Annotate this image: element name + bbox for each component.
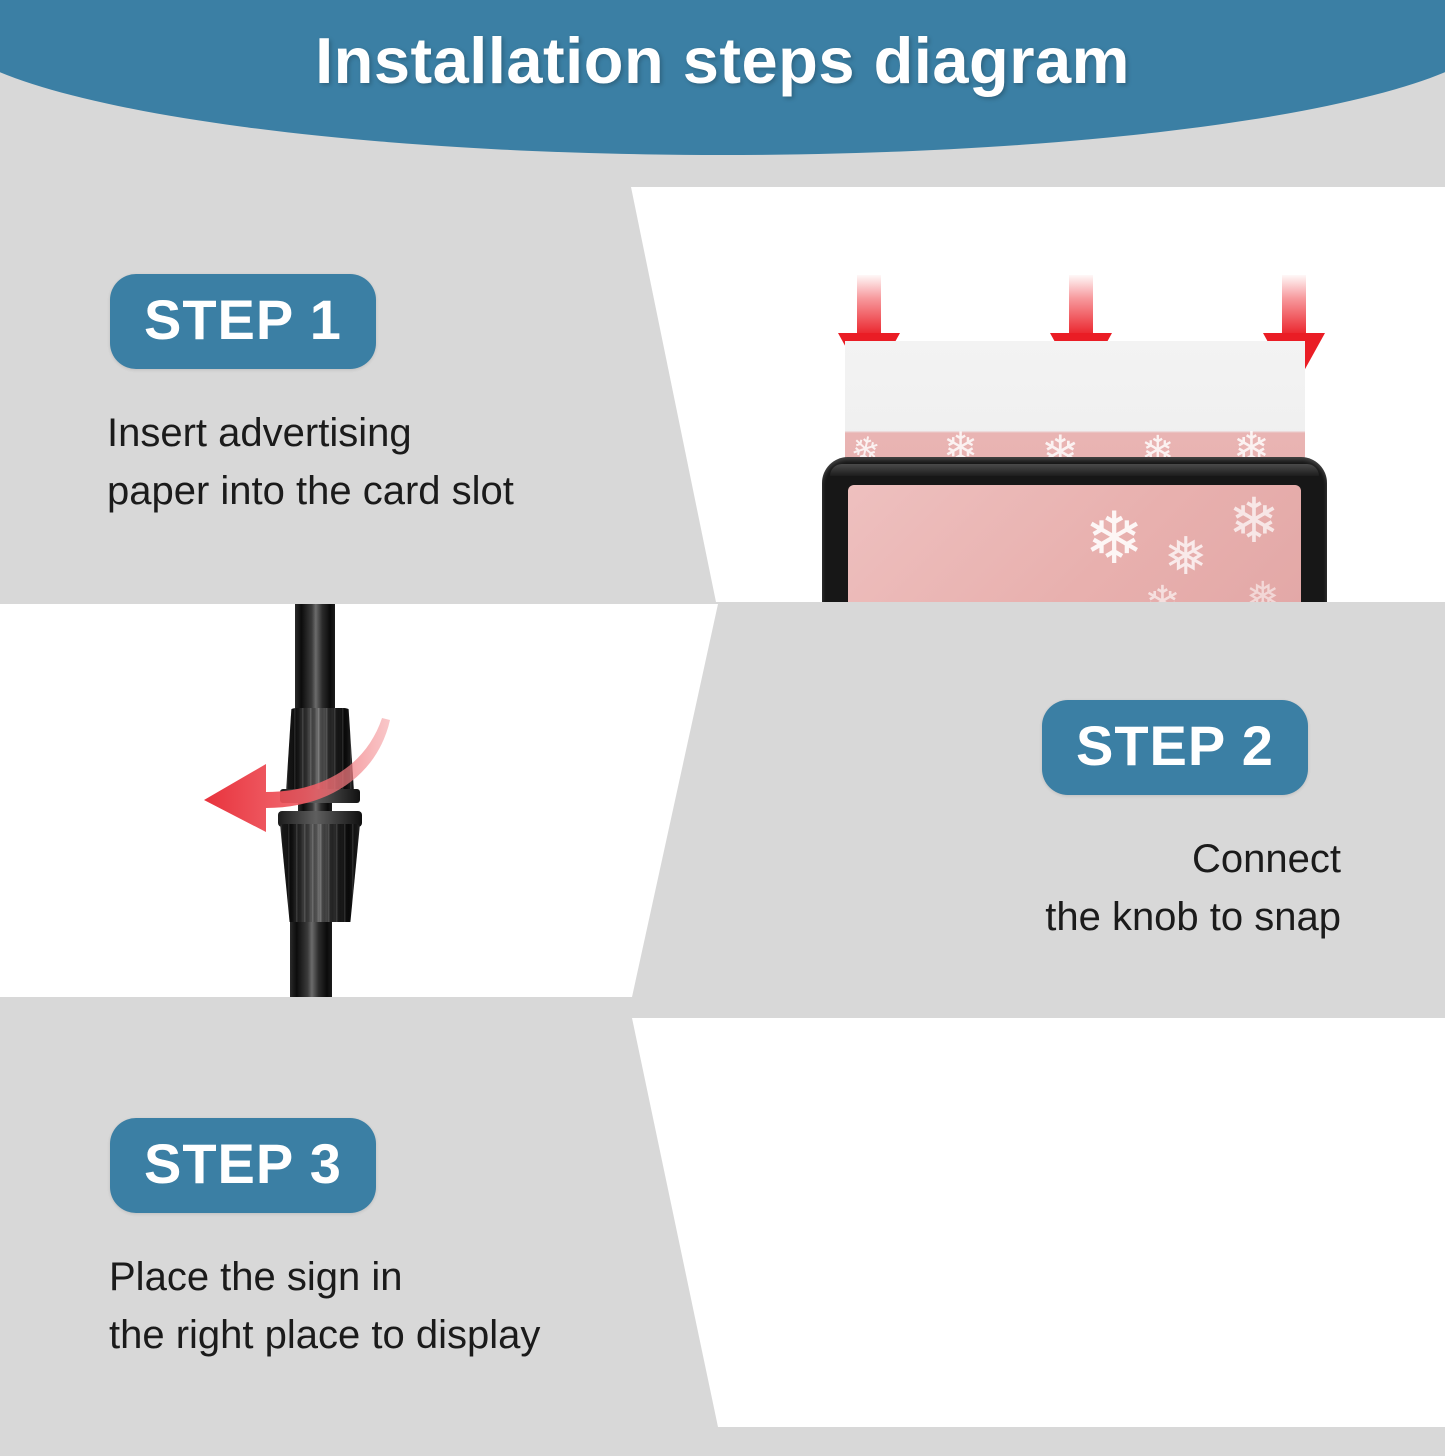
header-banner: Installation steps diagram [0, 0, 1445, 155]
step-1-badge-label: STEP 1 [144, 288, 342, 351]
insert-paper-illustration: ❄ ❅ ❄ ❅ ❄ ❅ ❄ ❅ ❄ ❅ ❄ ❄ ❄ ❅ [600, 187, 1445, 602]
step-1-illustration-panel: ❄ ❅ ❄ ❅ ❄ ❅ ❄ ❅ ❄ ❅ ❄ ❄ ❄ ❅ [600, 187, 1445, 602]
knob-lower [280, 824, 360, 922]
page-title: Installation steps diagram [0, 23, 1445, 98]
arrow-shaft [857, 275, 881, 337]
step-3-illustration-panel: Spring SALE SPECIAL OFFER UP TO 60% OFF … [600, 1018, 1445, 1427]
step-3-badge[interactable]: STEP 3 [110, 1118, 376, 1213]
sign-stands-illustration: Spring SALE SPECIAL OFFER UP TO 60% OFF … [600, 1018, 1445, 1427]
arrow-shaft [1282, 275, 1306, 337]
step-3-badge-label: STEP 3 [144, 1132, 342, 1195]
knob-rotation-illustration [0, 604, 720, 997]
step-2-illustration-panel [0, 604, 720, 997]
step-2-badge-label: STEP 2 [1076, 714, 1274, 777]
step-1-description-line-2: paper into the card slot [107, 462, 514, 520]
step-1-section: ❄ ❅ ❄ ❅ ❄ ❅ ❄ ❅ ❄ ❅ ❄ ❄ ❄ ❅ [0, 150, 1445, 602]
step-1-badge[interactable]: STEP 1 [110, 274, 376, 369]
knob-ridges [280, 824, 360, 922]
step-3-description-line-2: the right place to display [109, 1306, 540, 1364]
step-3-section: Spring SALE SPECIAL OFFER UP TO 60% OFF … [0, 999, 1445, 1445]
step-2-description-line-1: Connect [1045, 830, 1341, 888]
step-2-badge[interactable]: STEP 2 [1042, 700, 1308, 795]
step-3-description-line-1: Place the sign in [109, 1248, 540, 1306]
rotate-arrow-icon [170, 704, 390, 834]
step-1-description: Insert advertising paper into the card s… [107, 404, 514, 520]
step-3-description: Place the sign in the right place to dis… [109, 1248, 540, 1364]
step-1-description-line-1: Insert advertising [107, 404, 514, 462]
arrow-shaft [1069, 275, 1093, 337]
step-2-description: Connect the knob to snap [1045, 830, 1341, 946]
step-2-section: STEP 2 Connect the knob to snap [0, 604, 1445, 997]
step-2-description-line-2: the knob to snap [1045, 888, 1341, 946]
